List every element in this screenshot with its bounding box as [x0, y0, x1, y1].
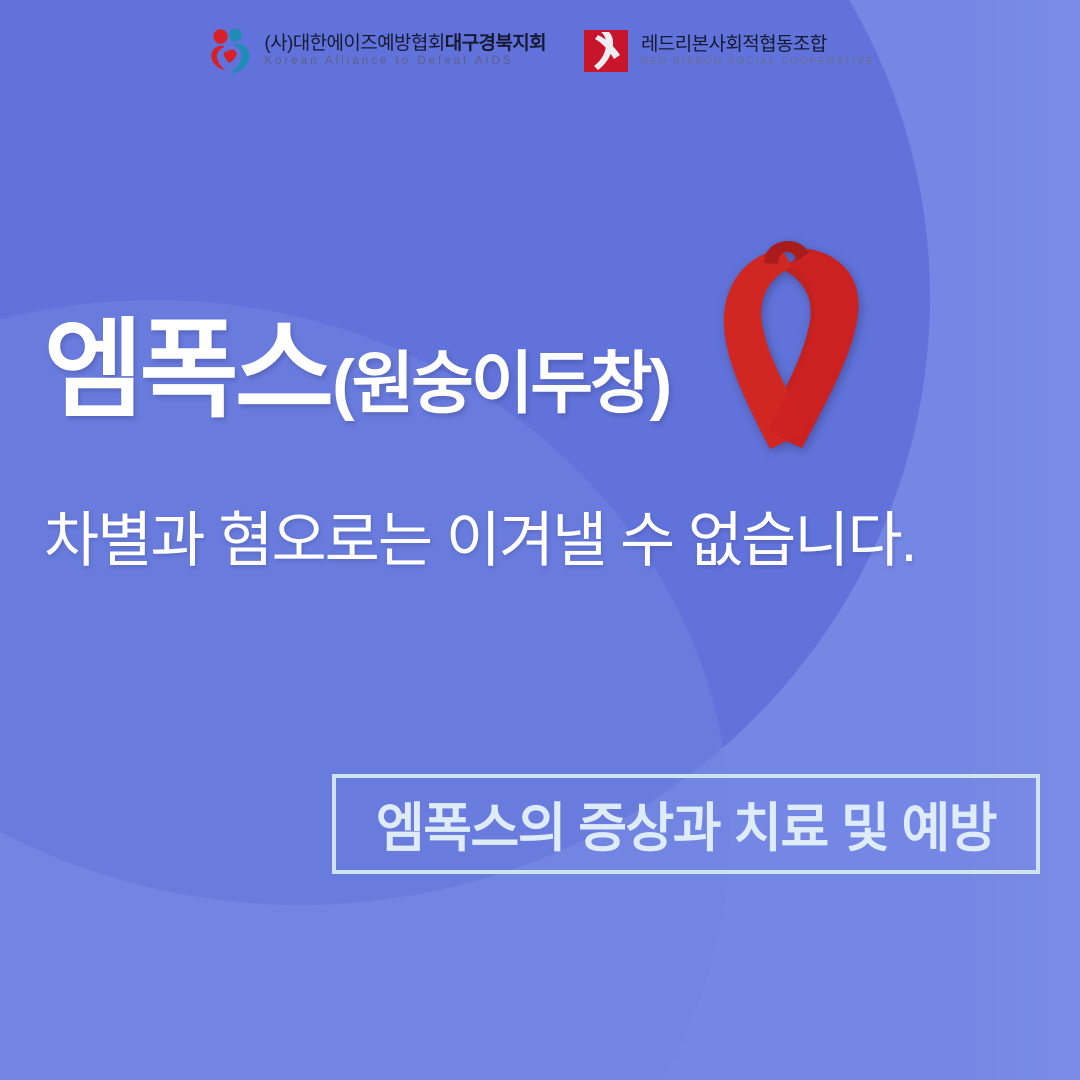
logo-redribbon-coop: 레드리본사회적협동조합 RED RIBBON SOCIAL COOPERATIV…: [582, 26, 875, 76]
logo-kadaids-korean: (사)대한에이즈예방협회대구경북지회: [264, 34, 546, 53]
logo-kadaids-text: (사)대한에이즈예방협회대구경북지회 Korean Alliance to De…: [264, 34, 546, 68]
logo-kadaids: (사)대한에이즈예방협회대구경북지회 Korean Alliance to De…: [205, 26, 546, 76]
poster-canvas: (사)대한에이즈예방협회대구경북지회 Korean Alliance to De…: [0, 0, 1080, 1080]
logo-redribbon-english: RED RIBBON SOCIAL COOPERATIVE: [641, 57, 875, 67]
headline: 엠폭스 (원숭이두창): [44, 316, 669, 424]
headline-primary: 엠폭스: [44, 316, 330, 424]
tagline: 차별과 혐오로는 이겨낼 수 없습니다.: [44, 492, 915, 579]
red-awareness-ribbon: [690, 235, 865, 460]
logo-kadaids-english: Korean Alliance to Defeat AIDS: [264, 56, 546, 68]
cta-label: 엠폭스의 증상과 치료 및 예방: [376, 786, 996, 862]
logo-redribbon-text: 레드리본사회적협동조합 RED RIBBON SOCIAL COOPERATIV…: [641, 35, 875, 67]
logo-redribbon-korean: 레드리본사회적협동조합: [641, 35, 875, 54]
logo-bar: (사)대한에이즈예방협회대구경북지회 Korean Alliance to De…: [0, 26, 1080, 76]
headline-parenthetical: (원숭이두창): [332, 350, 669, 418]
background-sheen: [960, 0, 1080, 1080]
cta-box[interactable]: 엠폭스의 증상과 치료 및 예방: [332, 774, 1040, 874]
red-ribbon-square-icon: [582, 26, 632, 76]
aids-prevention-heart-icon: [205, 26, 255, 76]
